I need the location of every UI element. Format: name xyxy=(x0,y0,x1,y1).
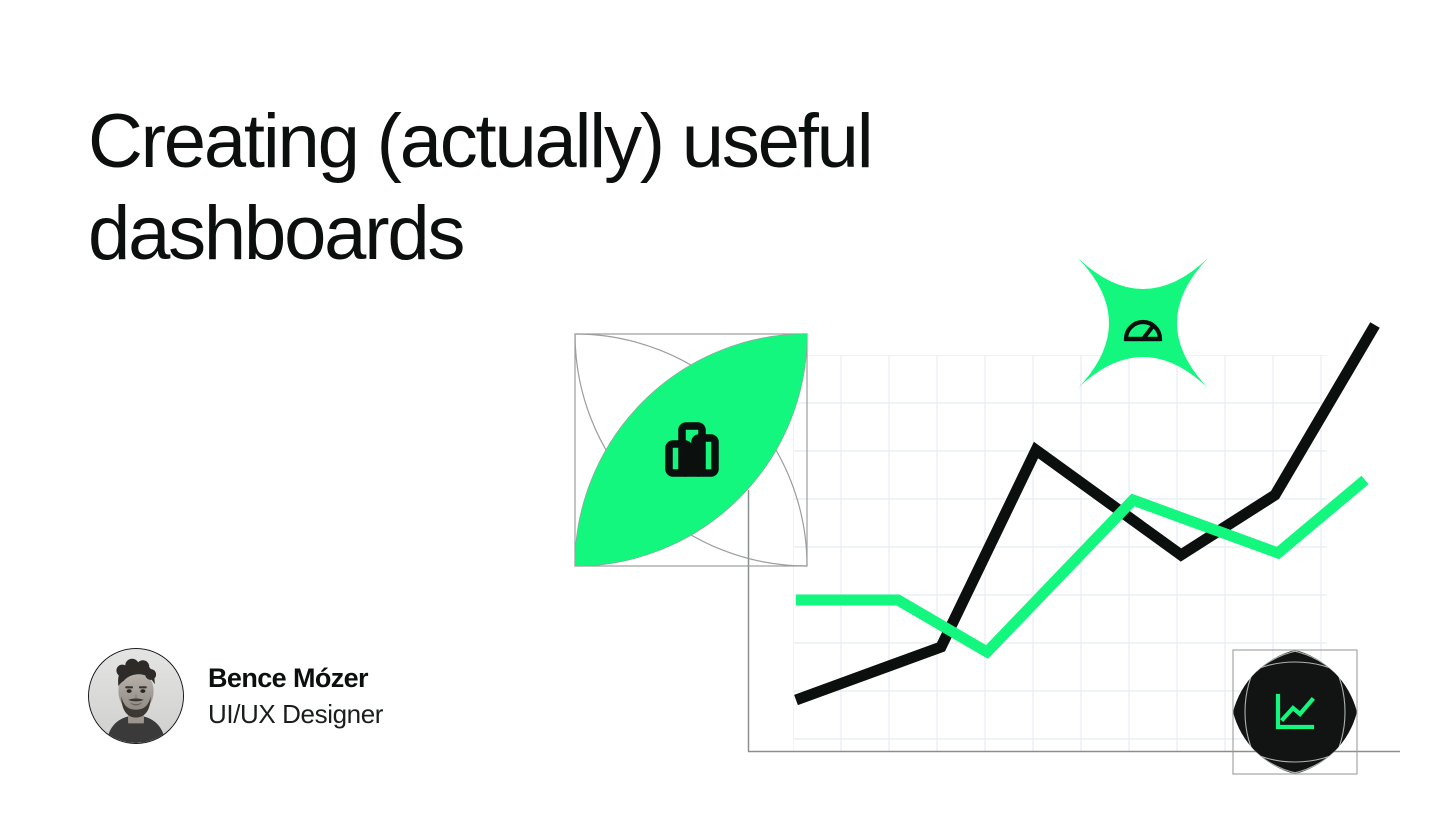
avatar-photo xyxy=(89,649,183,743)
lens-arc-outlines xyxy=(575,334,807,566)
avatar xyxy=(88,648,184,744)
squircle-arc-outlines xyxy=(1204,624,1386,801)
title-block: Creating (actually) useful dashboards xyxy=(88,96,1068,280)
squircle-shape xyxy=(1233,650,1357,774)
chart-series-green xyxy=(796,480,1365,652)
author-text: Bence Mózer UI/UX Designer xyxy=(208,661,383,731)
author-name: Bence Mózer xyxy=(208,661,383,695)
squircle-arc-outlines-back xyxy=(1233,650,1357,774)
bar-chart-badge xyxy=(575,334,807,566)
slide-canvas: Creating (actually) useful dashboards xyxy=(0,0,1440,840)
chart-series-black xyxy=(796,325,1375,700)
page-title: Creating (actually) useful dashboards xyxy=(88,96,1068,280)
gauge-icon xyxy=(1126,322,1160,339)
line-chart-icon xyxy=(1278,696,1312,727)
chart-gridlines xyxy=(793,355,1327,751)
chart-axis-frame xyxy=(748,490,1400,752)
lens-shape xyxy=(575,334,807,566)
four-point-star-shape xyxy=(1078,258,1208,388)
line-chart-badge xyxy=(1204,624,1386,801)
gauge-badge xyxy=(1078,258,1208,388)
author-block: Bence Mózer UI/UX Designer xyxy=(88,648,383,744)
author-role: UI/UX Designer xyxy=(208,697,383,731)
bar-chart-icon xyxy=(669,426,715,473)
